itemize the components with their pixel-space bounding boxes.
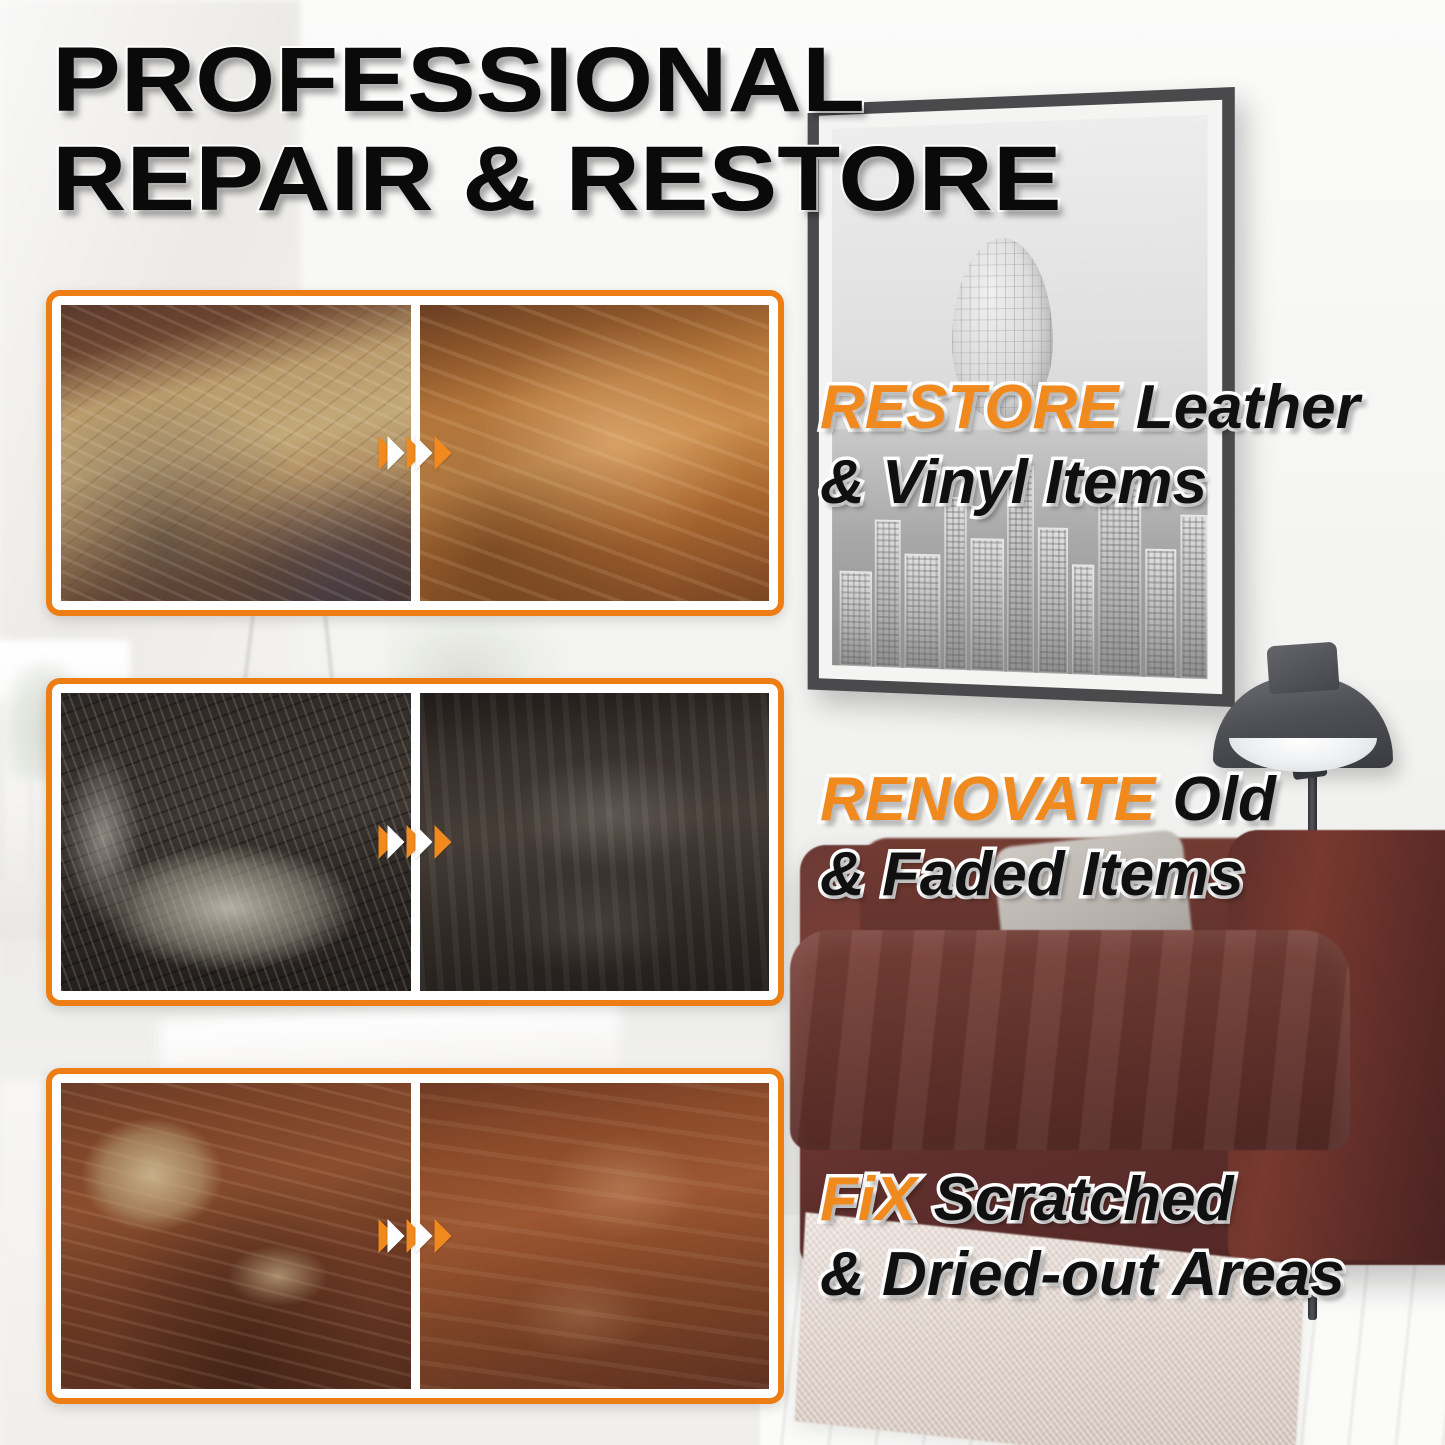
before-photo-tan-sofa (61, 305, 411, 601)
sofa-seat-cushion (790, 930, 1350, 1150)
feature-renovate-rest: Old (1155, 765, 1276, 834)
comparison-panel-tan-leather-sofa (46, 290, 784, 616)
after-photo-brown-sofa (420, 1083, 770, 1389)
after-photo-black-recliner (420, 693, 770, 991)
feature-renovate-keyword: RENOVATE (820, 765, 1155, 834)
feature-restore-rest: Leather (1119, 373, 1360, 442)
feature-restore-keyword: RESTORE (820, 373, 1119, 442)
comparison-panel-black-leather-recliner (46, 678, 784, 1006)
lamp-cap (1266, 642, 1339, 695)
feature-renovate-line-2: & Faded Items (820, 843, 1440, 906)
feature-restore-line-2: & Vinyl Items (820, 451, 1440, 514)
feature-fix: FiX Scratched & Dried-out Areas (820, 1168, 1440, 1306)
feature-restore-line-1: RESTORE Leather (820, 376, 1440, 439)
feature-fix-keyword: FiX (820, 1165, 916, 1234)
before-photo-black-recliner (61, 693, 411, 991)
feature-renovate: RENOVATE Old & Faded Items (820, 768, 1440, 906)
comparison-panel-brown-leather-sofa (46, 1068, 784, 1404)
feature-fix-rest: Scratched (916, 1165, 1233, 1234)
headline-line-1: PROFESSIONAL (52, 36, 1306, 125)
headline: PROFESSIONAL REPAIR & RESTORE (52, 36, 1172, 224)
feature-fix-line-1: FiX Scratched (820, 1168, 1440, 1231)
product-marketing-image: PROFESSIONAL REPAIR & RESTORE (0, 0, 1445, 1445)
headline-line-2: REPAIR & RESTORE (52, 135, 1306, 224)
feature-renovate-line-1: RENOVATE Old (820, 768, 1440, 831)
feature-fix-line-2: & Dried-out Areas (820, 1243, 1440, 1306)
after-photo-tan-sofa (420, 305, 770, 601)
feature-restore: RESTORE Leather & Vinyl Items (820, 376, 1440, 514)
before-photo-brown-sofa (61, 1083, 411, 1389)
